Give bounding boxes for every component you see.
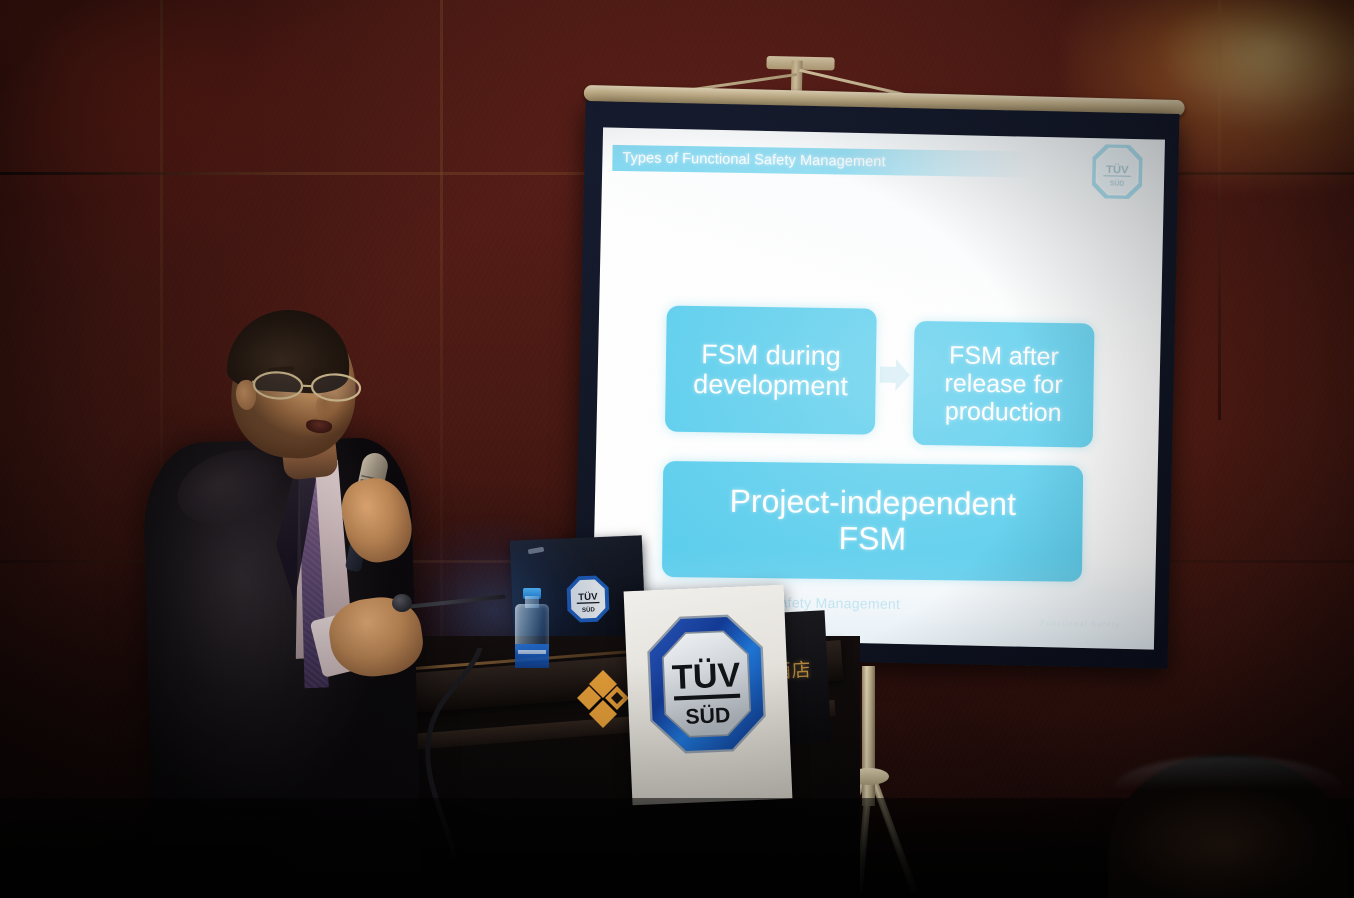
- diamond-logo: [577, 668, 629, 730]
- flow-arrow-icon: [879, 358, 910, 393]
- bottle-label: [515, 644, 549, 668]
- pointer-grip: [392, 594, 412, 612]
- box-line-3: production: [945, 397, 1062, 427]
- slide-title: Types of Functional Safety Management: [612, 150, 885, 170]
- slide-footer-right: Functional Safety: [1041, 620, 1121, 629]
- svg-text:TÜV: TÜV: [671, 655, 741, 697]
- screen-surface: Types of Functional Safety Management TÜ…: [592, 127, 1165, 649]
- slide-title-bar: Types of Functional Safety Management: [612, 145, 1032, 178]
- bottle-label-stripe: [518, 650, 546, 654]
- slide-box-fsm-during-development: FSM during development: [665, 306, 877, 435]
- tripod-post: [862, 666, 875, 806]
- svg-text:TÜV: TÜV: [1106, 163, 1129, 176]
- projected-slide: Types of Functional Safety Management TÜ…: [592, 127, 1165, 649]
- box-line-1: FSM during: [701, 339, 841, 371]
- box-line-1: FSM after: [949, 341, 1059, 371]
- tuv-sud-logo-sign: TÜV SÜD: [645, 612, 769, 757]
- slide-box-fsm-after-release: FSM after release for production: [913, 321, 1095, 448]
- bottle-body: [515, 604, 549, 652]
- wall-seam-vertical: [1218, 0, 1221, 420]
- box-line-2: FSM: [838, 520, 906, 557]
- screen-frame: Types of Functional Safety Management TÜ…: [574, 101, 1180, 669]
- eyeglasses: [251, 367, 365, 407]
- box-line-2: development: [693, 369, 848, 401]
- svg-text:SÜD: SÜD: [685, 702, 731, 729]
- slide-box-project-independent-fsm: Project-independent FSM: [662, 461, 1083, 582]
- conference-photo-scene: Types of Functional Safety Management TÜ…: [0, 0, 1354, 898]
- tuv-sud-logo-slide: TÜV SÜD: [1092, 144, 1143, 199]
- box-line-1: Project-independent: [729, 483, 1016, 522]
- water-bottle: [515, 588, 549, 652]
- box-line-2: release for: [944, 369, 1063, 399]
- tuv-sud-table-sign: TÜV SÜD: [624, 585, 793, 806]
